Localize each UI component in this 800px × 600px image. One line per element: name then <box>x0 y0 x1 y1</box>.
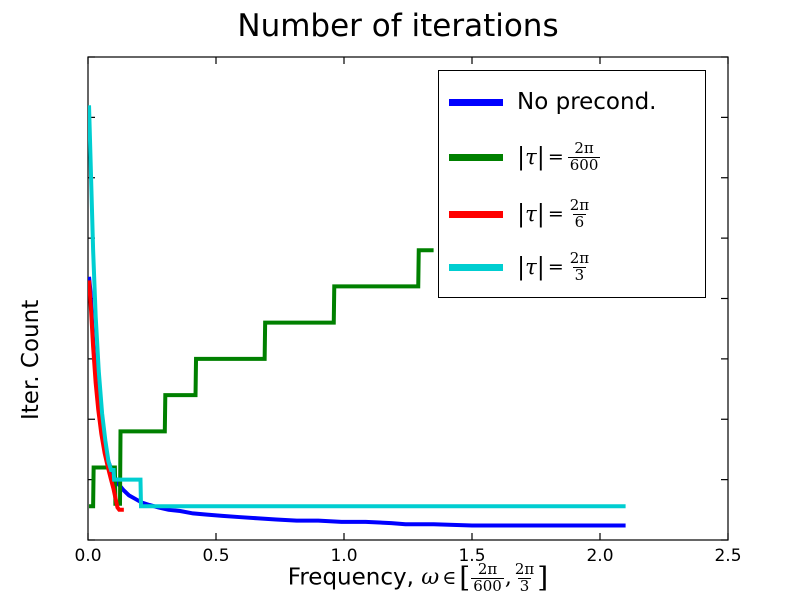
abs-bar-open: | <box>517 145 525 169</box>
tau-symbol: τ <box>525 204 537 225</box>
legend-color-swatch <box>449 99 503 106</box>
tau-symbol: τ <box>525 257 537 278</box>
abs-bar-open: | <box>517 202 525 226</box>
chart-legend[interactable]: No precond.|τ|=2π600|τ|=2π6|τ|=2π3 <box>438 70 706 298</box>
legend-fraction: 2π3 <box>568 251 591 284</box>
legend-color-swatch <box>449 154 503 161</box>
legend-label-math: |τ|=2π3 <box>517 251 592 284</box>
legend-color-swatch <box>449 211 503 218</box>
abs-bar-close: | <box>537 202 545 226</box>
abs-bar-close: | <box>537 145 545 169</box>
legend-fraction: 2π600 <box>568 141 601 174</box>
legend-entry-2[interactable]: |τ|=2π6 <box>449 198 592 231</box>
figure-canvas: Number of iterations Iter. Count 0501001… <box>0 0 800 600</box>
equals-symbol: = <box>548 258 564 277</box>
legend-entry-1[interactable]: |τ|=2π600 <box>449 141 601 174</box>
legend-color-swatch <box>449 264 503 271</box>
abs-bar-open: | <box>517 255 525 279</box>
fraction-denominator: 6 <box>573 214 587 231</box>
fraction-numerator: 2π <box>568 251 591 267</box>
legend-fraction: 2π6 <box>568 198 591 231</box>
fraction-denominator: 3 <box>573 267 587 284</box>
abs-bar-close: | <box>537 255 545 279</box>
legend-entry-3[interactable]: |τ|=2π3 <box>449 251 592 284</box>
legend-entry-0[interactable]: No precond. <box>449 89 657 115</box>
fraction-denominator: 600 <box>568 157 601 174</box>
legend-label: No precond. <box>517 89 657 115</box>
legend-label-math: |τ|=2π600 <box>517 141 601 174</box>
fraction-numerator: 2π <box>568 198 591 214</box>
legend-label-math: |τ|=2π6 <box>517 198 592 231</box>
equals-symbol: = <box>548 205 564 224</box>
fraction-numerator: 2π <box>572 141 595 157</box>
tau-symbol: τ <box>525 147 537 168</box>
equals-symbol: = <box>548 148 564 167</box>
